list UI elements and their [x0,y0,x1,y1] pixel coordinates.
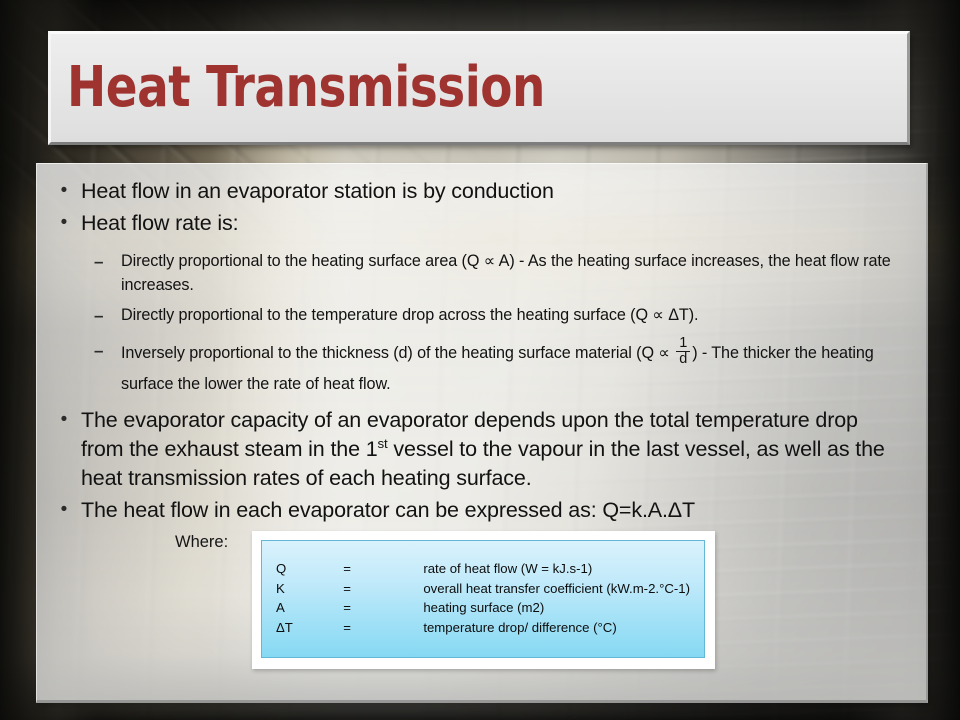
legend-symbol: ΔT [276,618,343,638]
bullet-item: • Heat flow in an evaporator station is … [47,176,916,206]
fraction-denominator: d [676,351,690,367]
legend-symbol: K [276,579,343,599]
bullet-text: Heat flow rate is: [81,208,238,238]
sub-bullet-text: Directly proportional to the heating sur… [121,249,916,297]
sub-bullet-text-before: Inversely proportional to the thickness … [121,344,674,362]
sub-bullet-text: Directly proportional to the temperature… [121,303,916,327]
title-panel: Heat Transmission [48,31,910,145]
sub-bullet-item-fraction: – Inversely proportional to the thicknes… [47,338,916,399]
legend-table: Q = rate of heat flow (W = kJ.s-1) K = o… [276,559,690,637]
legend-equals: = [343,598,423,618]
bullet-item: • Heat flow rate is: [47,208,916,238]
spacer [47,240,916,249]
bullet-marker: • [47,495,81,525]
bullet-item: • The heat flow in each evaporator can b… [47,495,916,525]
table-row: K = overall heat transfer coefficient (k… [276,579,690,599]
sub-bullet-item: – Directly proportional to the temperatu… [47,303,916,328]
legend-box: Q = rate of heat flow (W = kJ.s-1) K = o… [261,540,705,658]
bullet-text: The heat flow in each evaporator can be … [81,495,695,525]
legend-equals: = [343,579,423,599]
slide: Heat Transmission • Heat flow in an evap… [0,0,960,720]
table-row: ΔT = temperature drop/ difference (°C) [276,618,690,638]
fraction-numerator: 1 [676,336,690,351]
bullet-marker: • [47,405,81,435]
legend-definition: rate of heat flow (W = kJ.s-1) [423,559,690,579]
page-title: Heat Transmission [67,60,545,116]
spacer [47,329,916,338]
where-label: Where: [47,531,252,553]
table-row: A = heating surface (m2) [276,598,690,618]
where-row: Where: Q = rate of heat flow (W = kJ.s-1… [47,531,916,669]
legend-equals: = [343,559,423,579]
legend-definition: temperature drop/ difference (°C) [423,618,690,638]
content-panel: • Heat flow in an evaporator station is … [36,163,928,703]
sub-bullet-marker: – [94,303,121,328]
bullet-text: Heat flow in an evaporator station is by… [81,176,554,206]
bullet-item: • The evaporator capacity of an evaporat… [47,405,916,493]
bullet-marker: • [47,208,81,238]
legend-definition: heating surface (m2) [423,598,690,618]
legend-symbol: Q [276,559,343,579]
sub-bullet-marker: – [94,249,121,274]
sub-bullet-marker: – [94,338,121,363]
ordinal-superscript: st [378,436,388,451]
table-row: Q = rate of heat flow (W = kJ.s-1) [276,559,690,579]
legend-symbol: A [276,598,343,618]
legend-definition: overall heat transfer coefficient (kW.m-… [423,579,690,599]
legend-equals: = [343,618,423,638]
bullet-text: The evaporator capacity of an evaporator… [81,405,901,493]
fraction-one-over-d: 1d [676,336,690,367]
sub-bullet-item: – Directly proportional to the heating s… [47,249,916,297]
bullet-marker: • [47,176,81,206]
legend-frame: Q = rate of heat flow (W = kJ.s-1) K = o… [252,531,715,669]
sub-bullet-text: Inversely proportional to the thickness … [121,338,916,399]
